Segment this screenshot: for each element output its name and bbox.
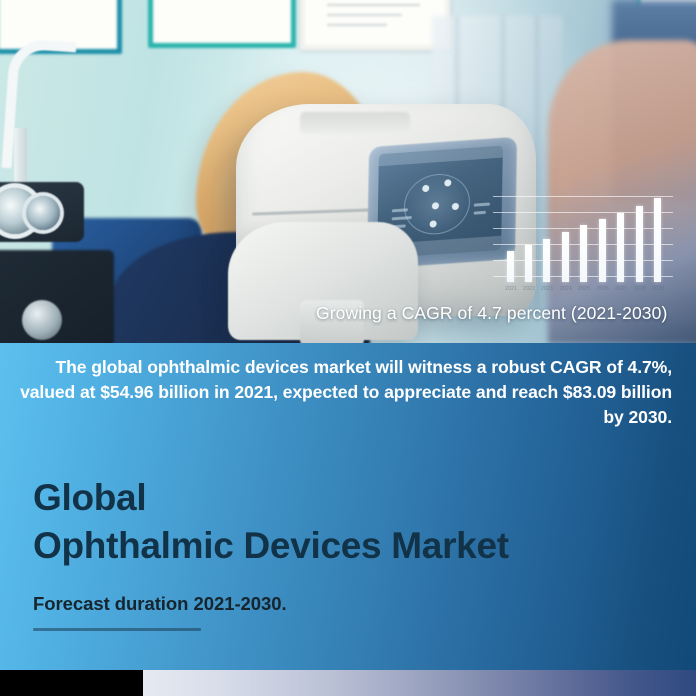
chart-x-tick: 2023 (541, 286, 553, 292)
chart-x-tick: 2026 (597, 286, 609, 292)
chart-x-tick: 2027 (615, 286, 627, 292)
chart-bar (654, 198, 661, 282)
framed-certificate (148, 0, 296, 48)
chart-bar (617, 213, 624, 282)
summary-panel: The global ophthalmic devices market wil… (0, 343, 696, 670)
slit-lamp-lens (26, 196, 60, 230)
chart-bar (599, 219, 606, 282)
clinician-figure (548, 40, 696, 343)
chart-x-tick: 2029 (652, 286, 664, 292)
chart-x-tick: 2028 (634, 286, 646, 292)
page-title-line2: Ophthalmic Devices Market (33, 522, 509, 570)
cagr-caption: Growing a CAGR of 4.7 percent (2021-2030… (316, 303, 667, 324)
hero-photo: 2021 2022 2023 2024 2025 2026 2027 2028 … (0, 0, 696, 343)
framed-certificate (300, 0, 450, 50)
chart-x-tick: 2024 (560, 286, 572, 292)
chart-bar (636, 206, 643, 282)
forecast-duration: Forecast duration 2021-2030. (33, 593, 287, 615)
chart-bar (543, 239, 550, 282)
market-description: The global ophthalmic devices market wil… (12, 355, 672, 430)
page-title-line1: Global (33, 474, 509, 522)
infographic-canvas: 2021 2022 2023 2024 2025 2026 2027 2028 … (0, 0, 696, 696)
page-title: Global Ophthalmic Devices Market (33, 474, 509, 570)
chart-x-tick: 2025 (578, 286, 590, 292)
chart-bar (507, 251, 514, 282)
chart-bar (562, 232, 569, 282)
chart-bar (525, 245, 532, 282)
chart-x-tick: 2022 (523, 286, 535, 292)
autorefractor-top-panel (300, 112, 410, 134)
footer-black-block (0, 670, 143, 696)
slit-lamp-arm (2, 38, 77, 172)
growth-bar-chart: 2021 2022 2023 2024 2025 2026 2027 2028 … (505, 196, 673, 292)
chart-bar (580, 225, 587, 282)
slit-lamp-knob (22, 300, 62, 340)
chart-x-tick: 2021 (505, 286, 517, 292)
title-divider (33, 628, 201, 631)
